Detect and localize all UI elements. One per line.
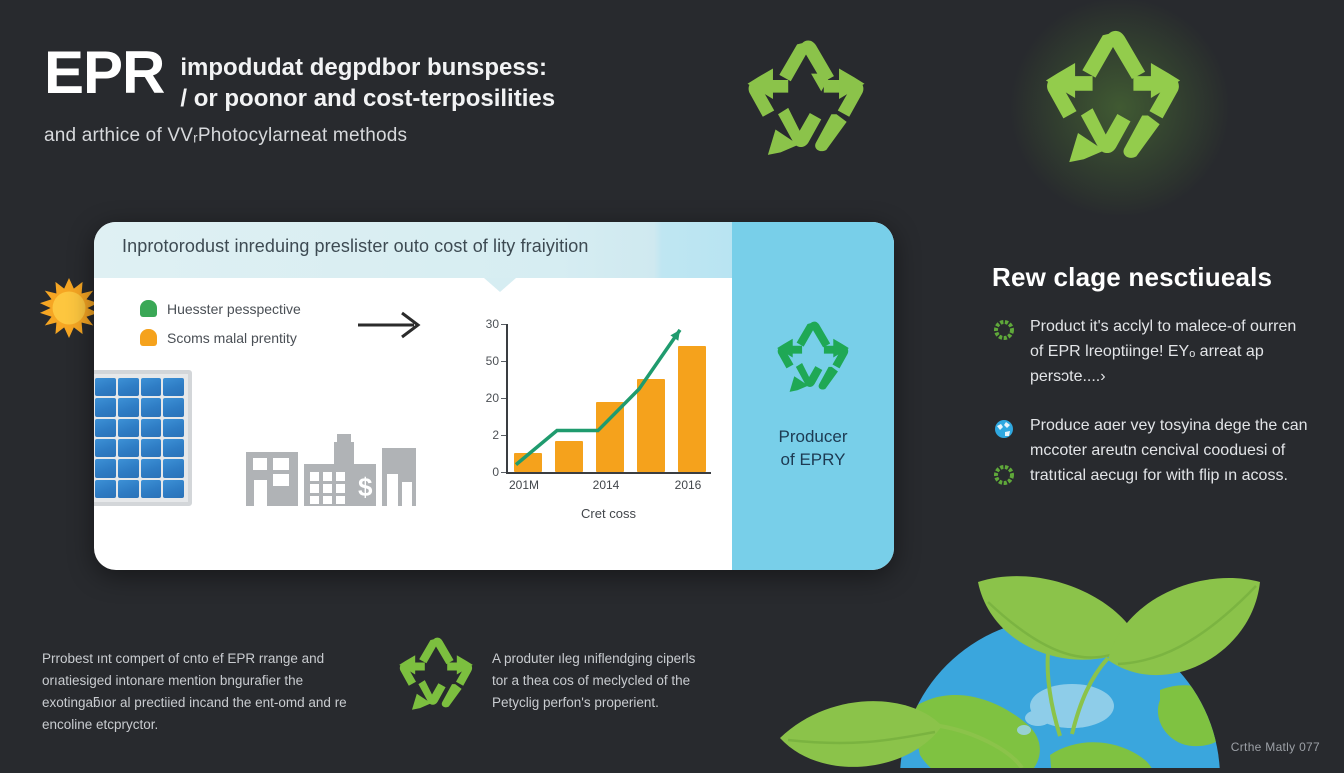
- solar-cell: [163, 480, 184, 498]
- right-column: Rew clage nesctiueals Product it's accly…: [992, 262, 1312, 513]
- chart-x-tick-label: 201M: [509, 478, 539, 492]
- producer-label: Producer of EPRY: [779, 426, 848, 472]
- recycle-loop-icon: [992, 463, 1016, 492]
- list-item-text: Produce aɑer vey tosyina dege the can mc…: [1030, 414, 1312, 489]
- list-item-text: Product it's acclyl to malece-of ourren …: [1030, 315, 1312, 390]
- factory-icon: $: [246, 434, 416, 511]
- producer-label-line-1: Producer: [779, 426, 848, 449]
- chart-x-tick-labels: 201M20142016: [506, 478, 711, 496]
- solar-cell: [163, 398, 184, 416]
- solar-cell: [118, 378, 139, 396]
- solar-cell: [118, 459, 139, 477]
- chart-y-tick-label: 2: [492, 428, 499, 442]
- epr-logo: EPR: [44, 44, 164, 101]
- solar-cell: [118, 398, 139, 416]
- globe-icon: [992, 417, 1016, 446]
- footer-middle-text: A produter ıleg ıniflendging ciperls tor…: [492, 648, 707, 714]
- solar-cell: [141, 459, 162, 477]
- solar-cell: [163, 419, 184, 437]
- chart-trend-line: [506, 324, 711, 474]
- solar-cell: [163, 378, 184, 396]
- recycle-icon: [774, 320, 852, 400]
- solar-cell: [141, 480, 162, 498]
- recycle-loop-icon: [992, 318, 1016, 347]
- chart-x-tick-label: 2014: [593, 478, 620, 492]
- legend-item: Scoms malal prentity: [140, 329, 301, 346]
- list-item: Produce aɑer vey tosyina dege the can mc…: [992, 414, 1312, 489]
- watermark-text: Crthe Matly 077: [1231, 740, 1320, 754]
- solar-cell: [163, 459, 184, 477]
- legend-swatch-green: [140, 300, 157, 317]
- producer-label-line-2: of EPRY: [779, 449, 848, 472]
- chart-y-tick-label: 20: [486, 391, 499, 405]
- arrow-right-icon: [356, 310, 426, 345]
- footer-left-text: Prrobest ınt compert of cnto ef EPR rran…: [42, 648, 372, 735]
- chart-trend-polyline: [516, 330, 680, 465]
- solar-cell: [141, 378, 162, 396]
- header-title-row: EPR impodudat degpdbor bunspess: / or po…: [44, 44, 684, 114]
- solar-cell: [95, 378, 116, 396]
- svg-text:$: $: [358, 472, 373, 502]
- sun-icon: [38, 277, 100, 344]
- recycle-icon: [1040, 28, 1186, 173]
- header-line-2: / or poonor and cost-terposilities: [180, 83, 555, 114]
- legend-swatch-orange: [140, 329, 157, 346]
- card-header-notch: [484, 278, 516, 292]
- page-header: EPR impodudat degpdbor bunspess: / or po…: [44, 44, 684, 147]
- recycle-icon: [742, 38, 870, 165]
- main-infographic-card: Inprotorodust inreduing preslister outo …: [94, 222, 894, 570]
- list-item: Product it's acclyl to malece-of ourren …: [992, 315, 1312, 390]
- legend-item: Huesster pesspective: [140, 300, 301, 317]
- legend-label: Huesster pesspective: [167, 301, 301, 317]
- producer-panel: Producer of EPRY: [732, 222, 894, 570]
- solar-cell: [141, 419, 162, 437]
- solar-cell: [95, 459, 116, 477]
- recycle-icon: [396, 636, 476, 718]
- right-column-title: Rew clage nesctiueals: [992, 262, 1312, 293]
- chart-y-tick-label: 50: [486, 354, 499, 368]
- solar-cell: [141, 439, 162, 457]
- solar-cell: [118, 439, 139, 457]
- chart-x-tick-label: 2016: [675, 478, 702, 492]
- solar-cell: [163, 439, 184, 457]
- page-subtitle: and arthice of VVᵣPhotocylarneat methods: [44, 125, 684, 147]
- card-header-text: Inprotorodust inreduing preslister outo …: [122, 236, 589, 257]
- solar-cell: [141, 398, 162, 416]
- solar-cell: [118, 419, 139, 437]
- chart-y-tick-label: 0: [492, 465, 499, 479]
- solar-cell: [95, 480, 116, 498]
- bar-chart: 30502020 201M20142016 Cret coss: [464, 318, 724, 528]
- globe-plant-illustration: [760, 560, 1344, 768]
- legend-label: Scoms malal prentity: [167, 330, 297, 346]
- chart-legend: Huesster pesspective Scoms malal prentit…: [140, 300, 301, 358]
- chart-plot-area: 30502020: [506, 324, 706, 472]
- header-line-1: impodudat degpdbor bunspess:: [180, 52, 555, 83]
- solar-cell: [95, 398, 116, 416]
- solar-cell: [95, 439, 116, 457]
- solar-cell: [118, 480, 139, 498]
- header-text-block: impodudat degpdbor bunspess: / or poonor…: [180, 44, 555, 114]
- chart-y-tick-label: 30: [486, 317, 499, 331]
- chart-caption: Cret coss: [506, 506, 711, 521]
- solar-cell: [95, 419, 116, 437]
- solar-panel-icon: [94, 370, 192, 506]
